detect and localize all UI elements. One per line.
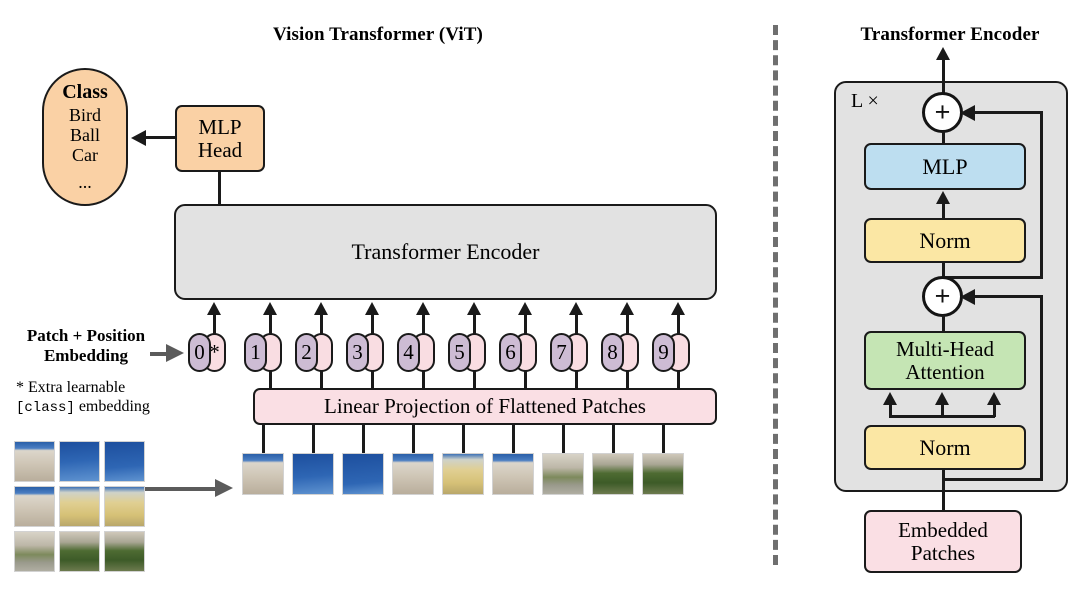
token-to-encoder-line: [626, 315, 629, 335]
token-index-2: 2: [295, 333, 318, 372]
class-item-bird: Bird: [69, 105, 101, 125]
residual-skip-mid-hline-bottom: [942, 478, 1043, 481]
embedded-patches-line2: Patches: [911, 542, 975, 565]
flattened-patch-tile: [592, 453, 634, 495]
patch-to-projection-line: [362, 423, 365, 453]
flattened-patch-tile: [242, 453, 284, 495]
source-to-patches-arrow-line: [145, 487, 215, 491]
token-to-encoder-arrowhead: [263, 302, 277, 315]
token-index-4: 4: [397, 333, 420, 372]
norm-bottom-label: Norm: [919, 436, 970, 460]
panel-divider: [773, 25, 778, 565]
multi-head-attention-block: Multi-Head Attention: [864, 331, 1026, 390]
transformer-encoder-label: Transformer Encoder: [352, 240, 540, 264]
norm-block-bottom: Norm: [864, 425, 1026, 470]
token-to-encoder-line: [269, 315, 272, 335]
residual-skip-top-arrowhead: [960, 105, 975, 121]
token-index-3: 3: [346, 333, 369, 372]
flattened-patch-tile: [642, 453, 684, 495]
projection-to-token-line: [626, 370, 629, 390]
token-to-encoder-arrowhead: [207, 302, 221, 315]
left-panel-title: Vision Transformer (ViT): [188, 24, 568, 46]
flattened-patch-tile: [442, 453, 484, 495]
token-to-encoder-arrowhead: [416, 302, 430, 315]
projection-to-token-line: [524, 370, 527, 390]
token-to-encoder-arrowhead: [365, 302, 379, 315]
qkv-left-arrowhead: [883, 392, 897, 405]
flattened-patch-tile: [542, 453, 584, 495]
linear-projection-box: Linear Projection of Flattened Patches: [253, 388, 717, 425]
projection-to-token-line: [575, 370, 578, 390]
flattened-patch-tile: [342, 453, 384, 495]
embedding-label-line2: Embedding: [44, 346, 128, 365]
projection-to-token-line: [320, 370, 323, 390]
token-to-encoder-line: [677, 315, 680, 335]
patch-to-projection-line: [462, 423, 465, 453]
norm-block-top: Norm: [864, 218, 1026, 263]
mlp-to-class-line: [146, 136, 176, 139]
token-index-9: 9: [652, 333, 675, 372]
projection-to-token-line: [269, 370, 272, 390]
norm-top-to-mlp-arrowhead: [936, 191, 950, 204]
projection-to-token-line: [473, 370, 476, 390]
token-to-encoder-line: [371, 315, 374, 335]
patch-to-projection-line: [662, 423, 665, 453]
residual-skip-top-hline-bottom: [942, 276, 1043, 279]
class-output-pill: Class Bird Ball Car ...: [42, 68, 128, 206]
projection-to-token-line: [677, 370, 680, 390]
token-index-5: 5: [448, 333, 471, 372]
source-patch-tile: [59, 441, 100, 482]
encoder-output-arrowhead: [936, 47, 950, 60]
class-item-car: Car: [72, 145, 98, 165]
patch-to-projection-line: [562, 423, 565, 453]
token-index-1: 1: [244, 333, 267, 372]
residual-skip-mid-hline-top: [975, 295, 1043, 298]
residual-add-mid: +: [922, 276, 963, 317]
token-index-8: 8: [601, 333, 624, 372]
source-patch-tile: [104, 441, 145, 482]
mlp-block: MLP: [864, 143, 1026, 190]
qkv-mid-line: [941, 404, 944, 417]
mlp-head-line1: MLP: [198, 116, 241, 139]
token-index-7: 7: [550, 333, 573, 372]
encoder-to-mlp-head-line: [218, 170, 221, 206]
transformer-encoder-box: Transformer Encoder: [174, 204, 717, 300]
source-to-patches-arrowhead: [215, 479, 233, 497]
embedding-label-arrowhead: [166, 344, 184, 362]
embedded-patches-block: Embedded Patches: [864, 510, 1022, 573]
residual-skip-top-hline-top: [975, 111, 1043, 114]
token-to-encoder-line: [473, 315, 476, 335]
patch-position-embedding-label: Patch + Position Embedding: [6, 326, 166, 365]
class-ellipsis: ...: [78, 172, 92, 192]
attention-line2: Attention: [905, 361, 984, 384]
flattened-patch-tile: [492, 453, 534, 495]
patch-to-projection-line: [512, 423, 515, 453]
projection-to-token-line: [422, 370, 425, 390]
attention-line1: Multi-Head: [896, 338, 994, 361]
token-to-encoder-line: [213, 315, 216, 335]
token-to-encoder-arrowhead: [569, 302, 583, 315]
residual-skip-mid-arrowhead: [960, 289, 975, 305]
patch-to-projection-line: [412, 423, 415, 453]
extra-note-line1: * Extra learnable: [16, 379, 125, 396]
qkv-left-line: [889, 404, 892, 417]
token-to-encoder-line: [422, 315, 425, 335]
token-to-encoder-arrowhead: [314, 302, 328, 315]
patch-to-projection-line: [612, 423, 615, 453]
source-patch-tile: [14, 486, 55, 527]
token-to-encoder-arrowhead: [518, 302, 532, 315]
mlp-head-box: MLP Head: [175, 105, 265, 172]
class-label: Class: [62, 82, 108, 104]
patch-to-projection-line: [312, 423, 315, 453]
qkv-mid-arrowhead: [935, 392, 949, 405]
token-to-encoder-line: [575, 315, 578, 335]
qkv-right-line: [993, 404, 996, 417]
embedded-patches-to-norm-line: [942, 468, 945, 514]
source-patch-tile: [14, 441, 55, 482]
repeat-count-label: L ×: [851, 90, 879, 113]
projection-to-token-line: [371, 370, 374, 390]
mlp-block-label: MLP: [922, 155, 967, 179]
mlp-head-line2: Head: [198, 139, 242, 162]
embedding-label-line1: Patch + Position: [27, 326, 145, 345]
norm-top-label: Norm: [919, 229, 970, 253]
residual-skip-mid-vline: [1040, 295, 1043, 481]
flattened-patch-tile: [392, 453, 434, 495]
class-token-code: [class]: [16, 400, 75, 416]
token-index-6: 6: [499, 333, 522, 372]
token-to-encoder-line: [524, 315, 527, 335]
right-panel-title: Transformer Encoder: [820, 24, 1080, 46]
token-to-encoder-arrowhead: [671, 302, 685, 315]
token-index-0: 0: [188, 333, 211, 372]
source-patch-tile: [104, 531, 145, 572]
source-patch-tile: [59, 531, 100, 572]
patch-to-projection-line: [262, 423, 265, 453]
token-to-encoder-arrowhead: [467, 302, 481, 315]
source-patch-tile: [104, 486, 145, 527]
token-to-encoder-line: [320, 315, 323, 335]
residual-skip-top-vline: [1040, 111, 1043, 279]
source-patch-tile: [14, 531, 55, 572]
residual-add-top: +: [922, 92, 963, 133]
embedding-label-arrow-line: [150, 352, 166, 356]
mlp-to-class-arrowhead: [131, 130, 146, 146]
flattened-patch-tile: [292, 453, 334, 495]
source-patch-tile: [59, 486, 100, 527]
embedded-patches-line1: Embedded: [898, 519, 988, 542]
linear-projection-label: Linear Projection of Flattened Patches: [324, 395, 646, 418]
token-to-encoder-arrowhead: [620, 302, 634, 315]
extra-note-line2-tail: embedding: [75, 398, 150, 415]
class-item-ball: Ball: [70, 125, 100, 145]
qkv-right-arrowhead: [987, 392, 1001, 405]
extra-learnable-note: * Extra learnable [class] embedding: [16, 378, 191, 417]
